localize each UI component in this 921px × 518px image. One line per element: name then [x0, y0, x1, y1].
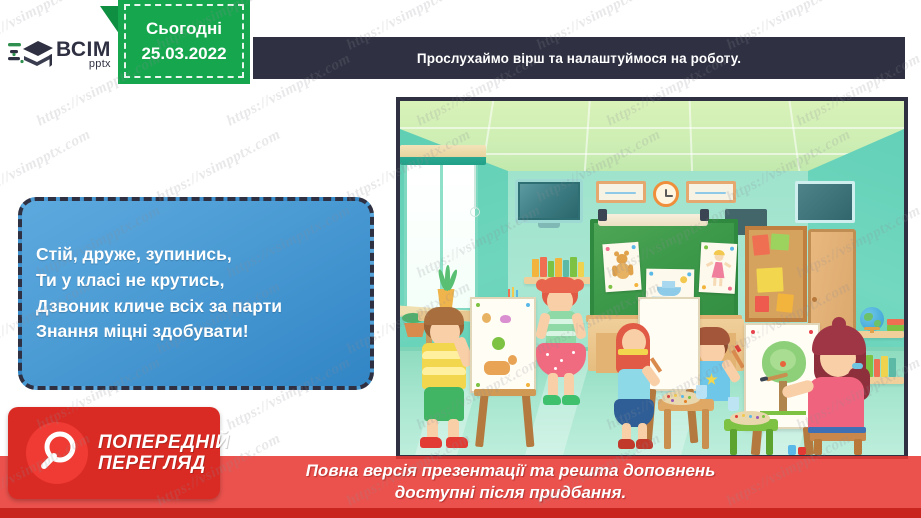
poem-line-4: Знання міцні здобувати!	[36, 319, 356, 345]
chair-leg-right-1	[814, 439, 822, 455]
chair-seat-blue	[808, 427, 866, 433]
easel-board-left	[470, 297, 536, 393]
preview-label-line-2: ПЕРЕГЛЯД	[98, 453, 230, 474]
globe-base	[864, 327, 880, 330]
banner-bottom-strip	[0, 508, 921, 518]
header-bar: Прослухаймо вірш та налаштуймося на робо…	[253, 37, 905, 79]
blind-knob	[470, 207, 480, 217]
window-blinds	[400, 145, 486, 165]
date-badge-value: 25.03.2022	[141, 41, 226, 67]
date-badge: Сьогодні 25.03.2022	[118, 0, 250, 84]
stool-leg-1	[664, 409, 671, 449]
wall-monitor-right	[795, 181, 855, 223]
roll-clip-right	[700, 209, 709, 221]
header-title: Прослухаймо вірш та налаштуймося на робо…	[417, 51, 741, 66]
water-cup-2	[728, 397, 739, 411]
poem-panel: Стій, друже, зупинись, Ти у класі не кру…	[18, 197, 374, 390]
banner-line-2: доступні після придбання.	[306, 482, 716, 504]
stool-green-leg-1	[730, 429, 737, 455]
paint-tubes-floor	[788, 445, 796, 455]
poem-line-1: Стій, друже, зупинись,	[36, 242, 356, 268]
poem-line-2: Ти у класі не крутись,	[36, 268, 356, 294]
cork-board	[745, 226, 807, 322]
wall-clock	[653, 181, 679, 207]
tv-stand	[538, 223, 560, 228]
paint-palette-1	[662, 391, 700, 405]
blind-cord	[474, 165, 476, 209]
poem-line-3: Дзвоник кличе всіх за парти	[36, 294, 356, 320]
graduation-cap-icon	[8, 34, 54, 74]
classroom-illustration	[396, 97, 908, 459]
slide-root: Прослухаймо вірш та налаштуймося на робо…	[0, 0, 921, 518]
paint-palette-2	[730, 411, 770, 425]
chair-leg-right-2	[854, 439, 862, 455]
easel-tray-left	[474, 389, 536, 396]
stool-leg-2	[702, 409, 709, 449]
wall-picture-right	[686, 181, 736, 203]
wall-tv	[515, 179, 583, 223]
water-cup-1	[696, 385, 707, 399]
date-badge-label: Сьогодні	[146, 16, 222, 42]
drawing-teddy-bear	[602, 242, 641, 292]
preview-button[interactable]: ПОПЕРЕДНІЙ ПЕРЕГЛЯД	[8, 407, 220, 499]
wall-picture-left	[596, 181, 646, 203]
logo-name: ВСІМ	[56, 39, 111, 60]
drawing-girl	[699, 242, 738, 294]
stool-green-leg-2	[766, 429, 773, 455]
paint-tube-red	[798, 447, 806, 455]
window	[404, 161, 478, 311]
banner-line-1: Повна версія презентації та решта доповн…	[306, 460, 716, 482]
preview-label-line-1: ПОПЕРЕДНІЙ	[98, 432, 230, 453]
magnifier-icon	[26, 422, 88, 484]
paper-roll	[598, 214, 708, 226]
roll-clip-left	[598, 209, 607, 221]
door-knob[interactable]	[812, 297, 817, 302]
watermark-text: https://vsimpptx.com	[0, 127, 94, 207]
watermark-text: https://vsimpptx.com	[154, 127, 284, 207]
